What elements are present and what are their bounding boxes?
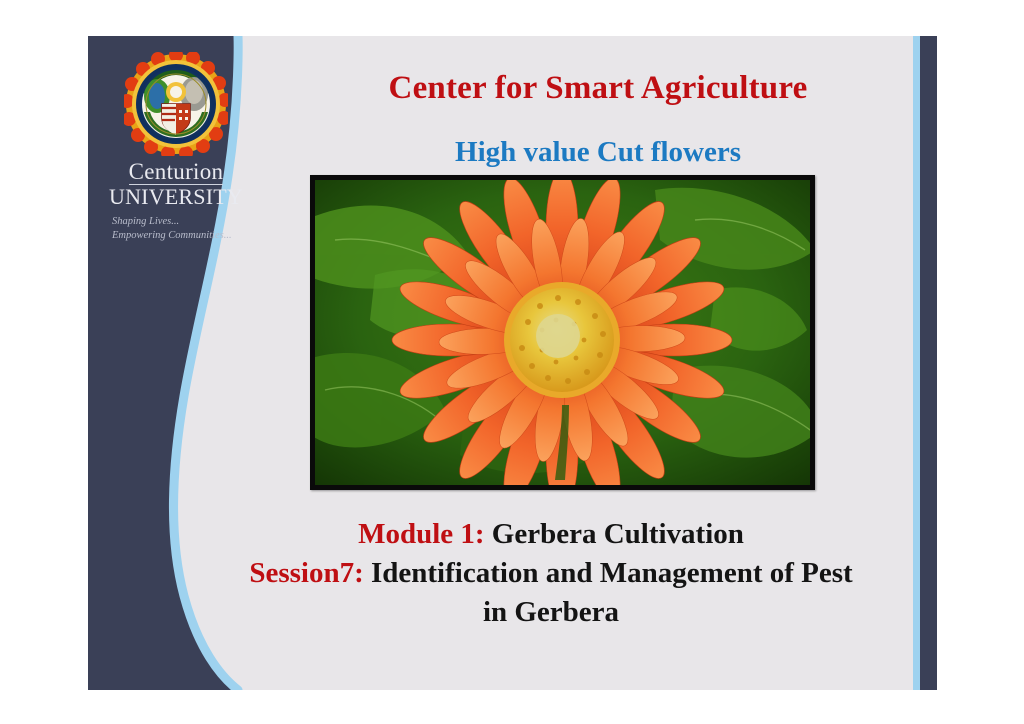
university-logo-block: Centurion UNIVERSITY Shaping Lives... Em… (106, 52, 246, 243)
session-label: Session7: (249, 557, 363, 589)
logo-name-line1: Centurion (129, 160, 224, 185)
caption-line-1: Module 1: Gerbera Cultivation (188, 515, 914, 554)
caption-line-2: Session7: Identification and Management … (188, 554, 914, 593)
session-title-cont: in Gerbera (483, 596, 619, 628)
right-accent-stripe (913, 36, 920, 690)
module-label: Module 1: (358, 518, 484, 550)
caption-line-3: in Gerbera (188, 593, 914, 632)
slide-root: Centurion UNIVERSITY Shaping Lives... Em… (0, 0, 1024, 724)
centurion-university-emblem-icon (124, 52, 228, 156)
logo-wordmark: Centurion UNIVERSITY (106, 160, 246, 208)
slide-caption: Module 1: Gerbera Cultivation Session7: … (188, 515, 914, 632)
logo-tagline: Shaping Lives... Empowering Communities.… (106, 215, 246, 243)
page-subtitle: High value Cut flowers (288, 136, 908, 169)
gerbera-flower-photo (310, 175, 815, 490)
logo-tagline-line1: Shaping Lives... (112, 215, 246, 229)
module-title: Gerbera Cultivation (492, 518, 744, 550)
session-title: Identification and Management of Pest (371, 557, 853, 589)
page-title: Center for Smart Agriculture (288, 70, 908, 107)
logo-name-line2: UNIVERSITY (106, 186, 246, 208)
logo-tagline-line2: Empowering Communities... (112, 229, 246, 243)
presentation-slide: Centurion UNIVERSITY Shaping Lives... Em… (88, 36, 937, 690)
right-navy-band (920, 36, 937, 690)
